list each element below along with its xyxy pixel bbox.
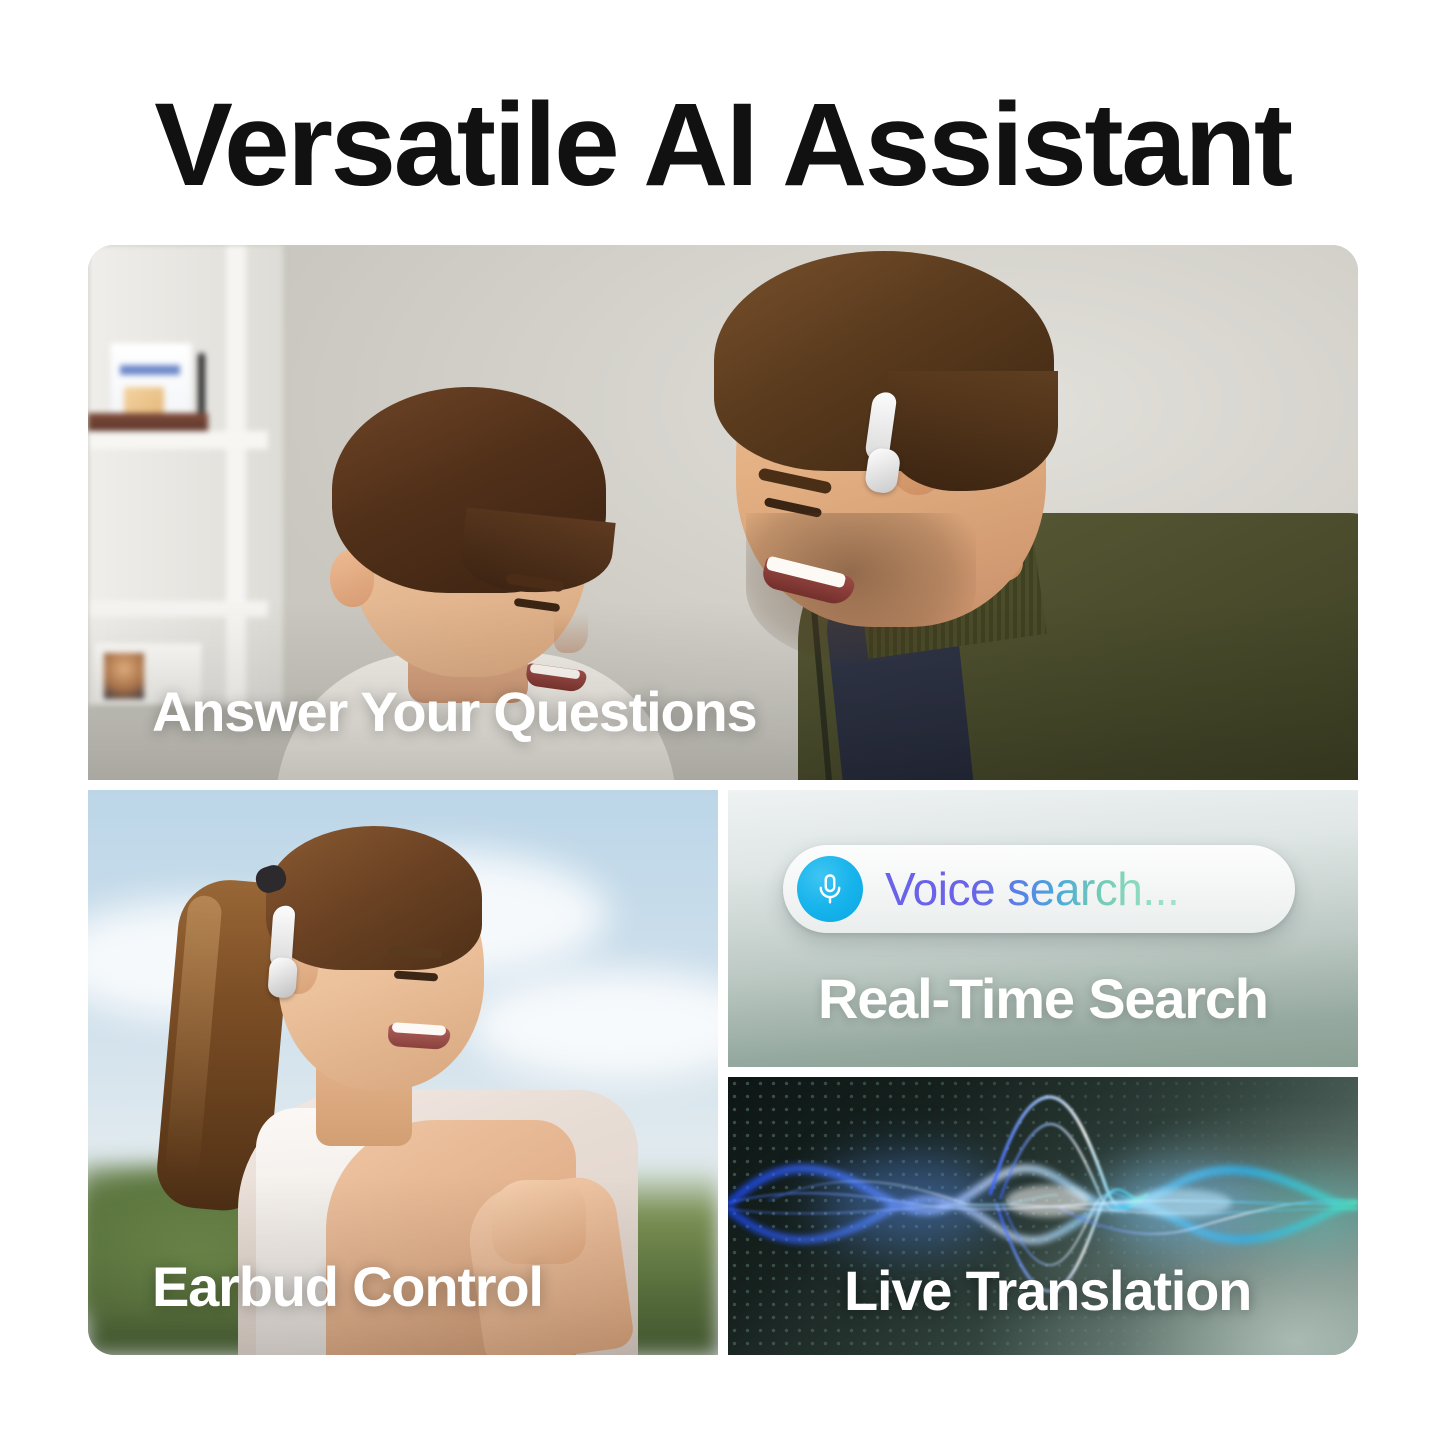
- voice-search-placeholder: Voice search...: [885, 866, 1179, 912]
- bookshelf-decor: [88, 245, 283, 705]
- product-feature-card: Versatile AI Assistant: [0, 0, 1445, 1445]
- panel-answer-your-questions[interactable]: Answer Your Questions: [88, 245, 1358, 780]
- panel-earbud-control[interactable]: Earbud Control: [88, 790, 718, 1355]
- panel-real-time-search[interactable]: Voice search... Real-Time Search: [728, 790, 1358, 1067]
- caption-earbud-control: Earbud Control: [152, 1254, 543, 1319]
- caption-live-translation: Live Translation: [844, 1258, 1251, 1323]
- voice-search-bar[interactable]: Voice search...: [783, 845, 1295, 933]
- microphone-icon[interactable]: [797, 856, 863, 922]
- page-title: Versatile AI Assistant: [0, 86, 1445, 204]
- caption-real-time-search: Real-Time Search: [818, 966, 1268, 1031]
- earbud-product-icon: [262, 905, 313, 1012]
- panel-live-translation[interactable]: Live Translation: [728, 1077, 1358, 1355]
- feature-collage: Answer Your Questions: [88, 245, 1358, 1355]
- caption-answer-your-questions: Answer Your Questions: [152, 679, 756, 744]
